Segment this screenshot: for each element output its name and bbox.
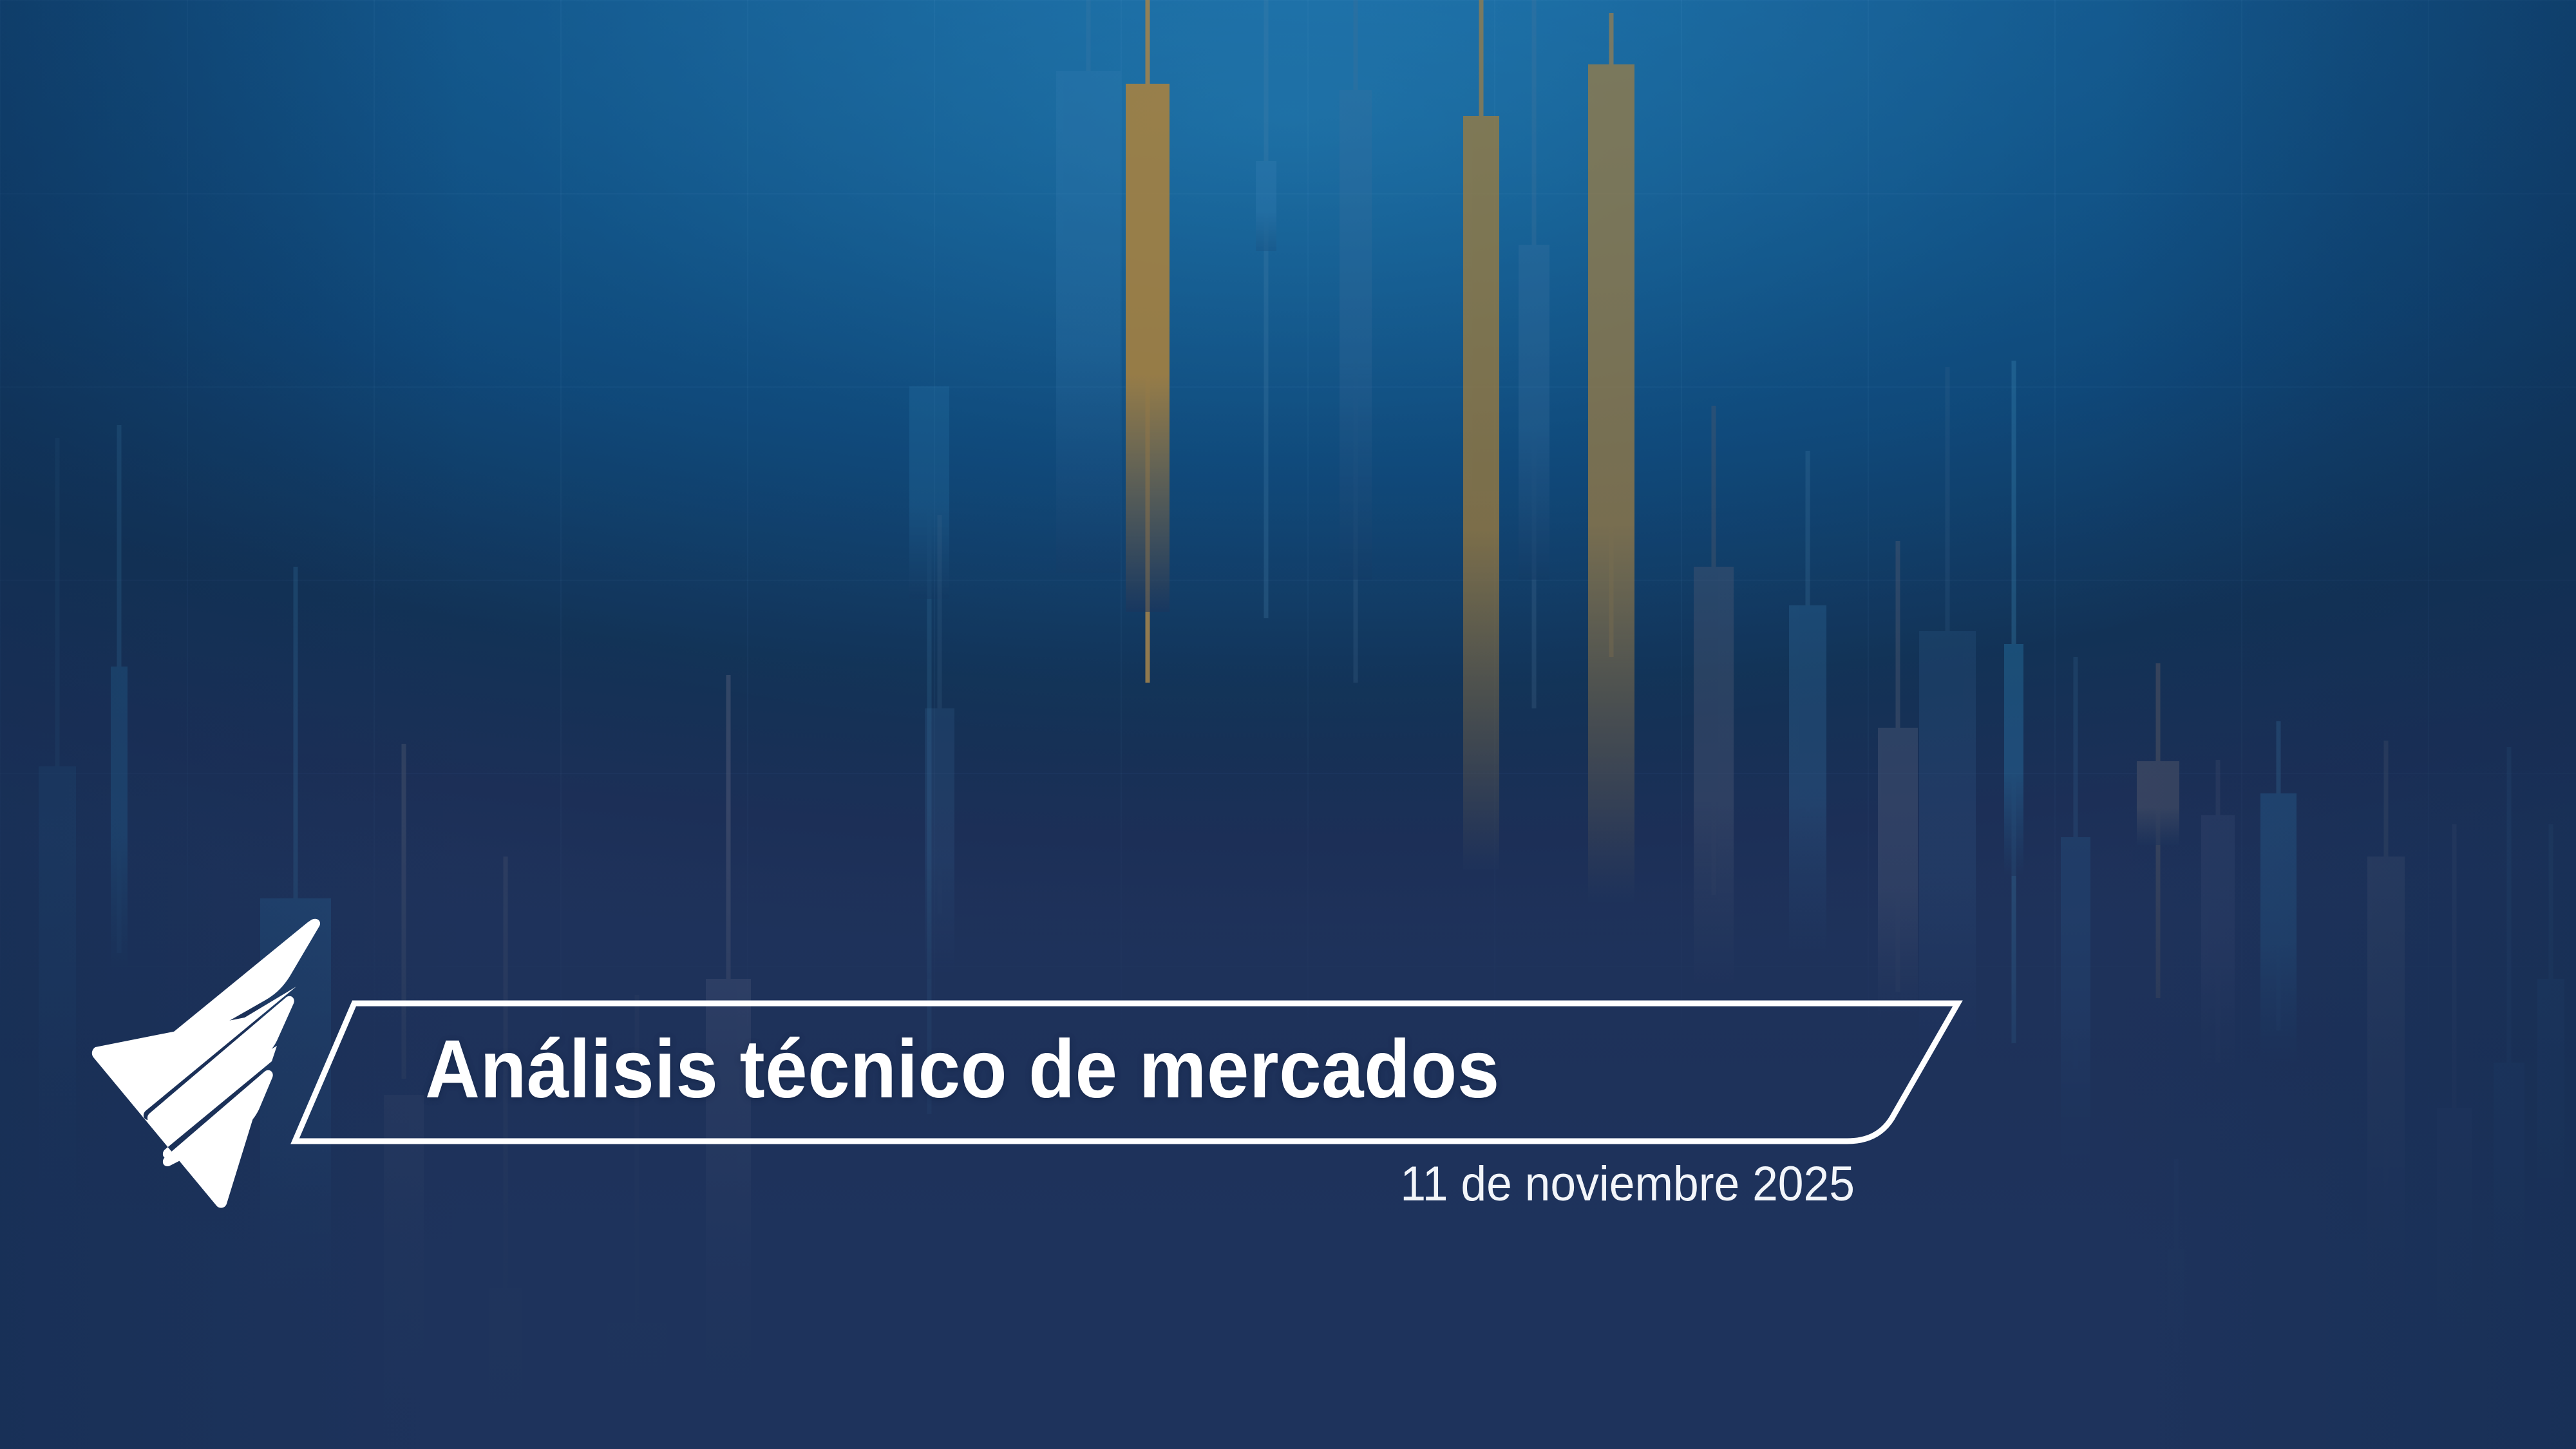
slide-root: Análisis técnico de mercados 11 de novie… (0, 0, 2576, 1449)
page-title: Análisis técnico de mercados (425, 1005, 1728, 1133)
report-date: 11 de noviembre 2025 (838, 1156, 1855, 1212)
background-corner-vignette (0, 0, 2576, 1449)
